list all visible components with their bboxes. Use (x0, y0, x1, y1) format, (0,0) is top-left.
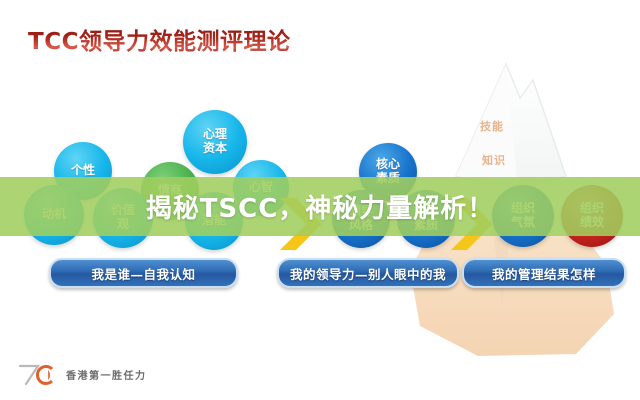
pill-my-management-result[interactable]: 我的管理结果怎样 (462, 258, 626, 288)
bubble-label: 心理 (203, 128, 227, 142)
iceberg-label-skill: 技能 (480, 118, 504, 134)
iceberg-label-knowledge: 知识 (482, 152, 506, 168)
pill-my-leadership[interactable]: 我的领导力—别人眼中的我 (277, 258, 459, 288)
slide-canvas: TCC领导力效能测评理论 技能 知识 (0, 0, 640, 400)
brand-logo: 香港第一胜任力 (18, 362, 147, 386)
pill-who-am-i[interactable]: 我是谁—自我认知 (49, 258, 238, 288)
bubble-label: 资本 (203, 142, 227, 156)
bubble-label: 核心 (376, 158, 400, 172)
promo-banner-text: 揭秘TSCC，神秘力量解析！ (0, 177, 640, 236)
bubble-psychological-capital[interactable]: 心理 资本 (183, 110, 247, 174)
brand-tagline: 香港第一胜任力 (66, 367, 147, 382)
bubble-label: 个性 (71, 164, 95, 178)
tc-logo-icon (18, 362, 58, 386)
page-title: TCC领导力效能测评理论 (28, 22, 290, 56)
